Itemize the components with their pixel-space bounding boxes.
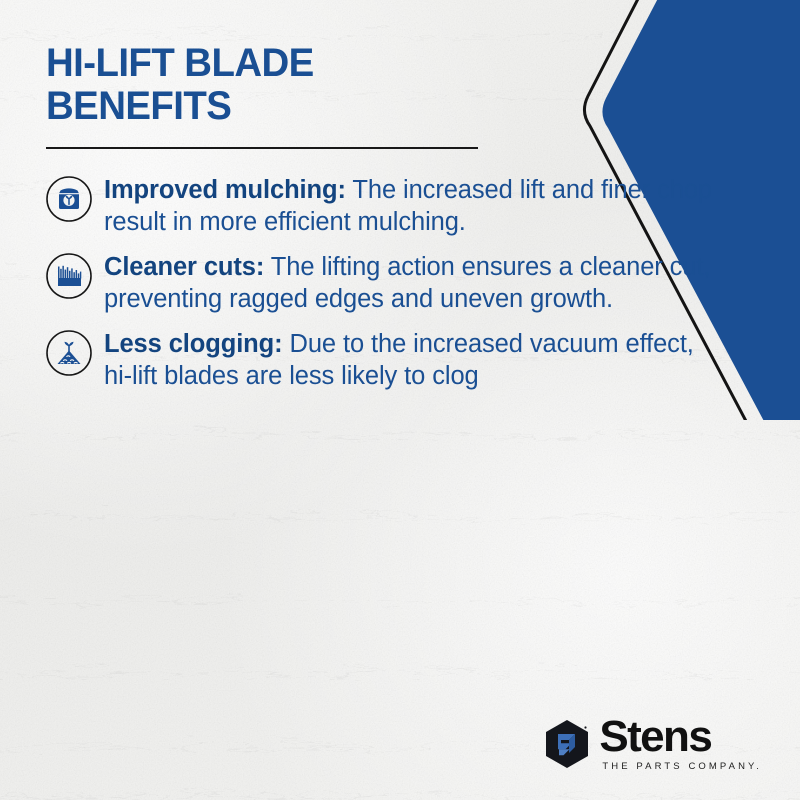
benefit-lead: Cleaner cuts:	[104, 253, 264, 281]
cut-grass-icon	[44, 251, 94, 301]
page-title-line1: HI-LIFT BLADE	[46, 41, 314, 85]
benefit-item: Cleaner cuts: The lifting action ensures…	[44, 249, 724, 316]
stens-tagline: THE PARTS COMPANY.	[602, 761, 762, 772]
benefit-text: Less clogging: Due to the increased vacu…	[104, 326, 724, 393]
benefits-list: Improved mulching: The increased lift an…	[44, 172, 724, 402]
stens-wordmark: Stens	[599, 717, 762, 757]
poster-canvas: HI-LIFT BLADE BENEFITS Improved mulching…	[0, 0, 800, 800]
page-title-line2: BENEFITS	[46, 85, 545, 128]
mulch-bag-icon	[44, 174, 94, 224]
title-divider	[46, 147, 478, 149]
stens-wordmark-block: Stens THE PARTS COMPANY.	[599, 717, 762, 772]
benefit-lead: Improved mulching:	[104, 176, 346, 204]
mulch-pile-sprout-icon	[44, 328, 94, 378]
stens-hex-icon	[541, 718, 593, 770]
stens-logo: Stens THE PARTS COMPANY.	[541, 717, 762, 772]
benefit-item: Improved mulching: The increased lift an…	[44, 172, 724, 239]
benefit-text: Improved mulching: The increased lift an…	[104, 172, 724, 239]
benefit-lead: Less clogging:	[104, 330, 283, 358]
benefit-item: Less clogging: Due to the increased vacu…	[44, 326, 724, 393]
benefit-text: Cleaner cuts: The lifting action ensures…	[104, 249, 724, 316]
page-title: HI-LIFT BLADE BENEFITS	[46, 42, 545, 128]
